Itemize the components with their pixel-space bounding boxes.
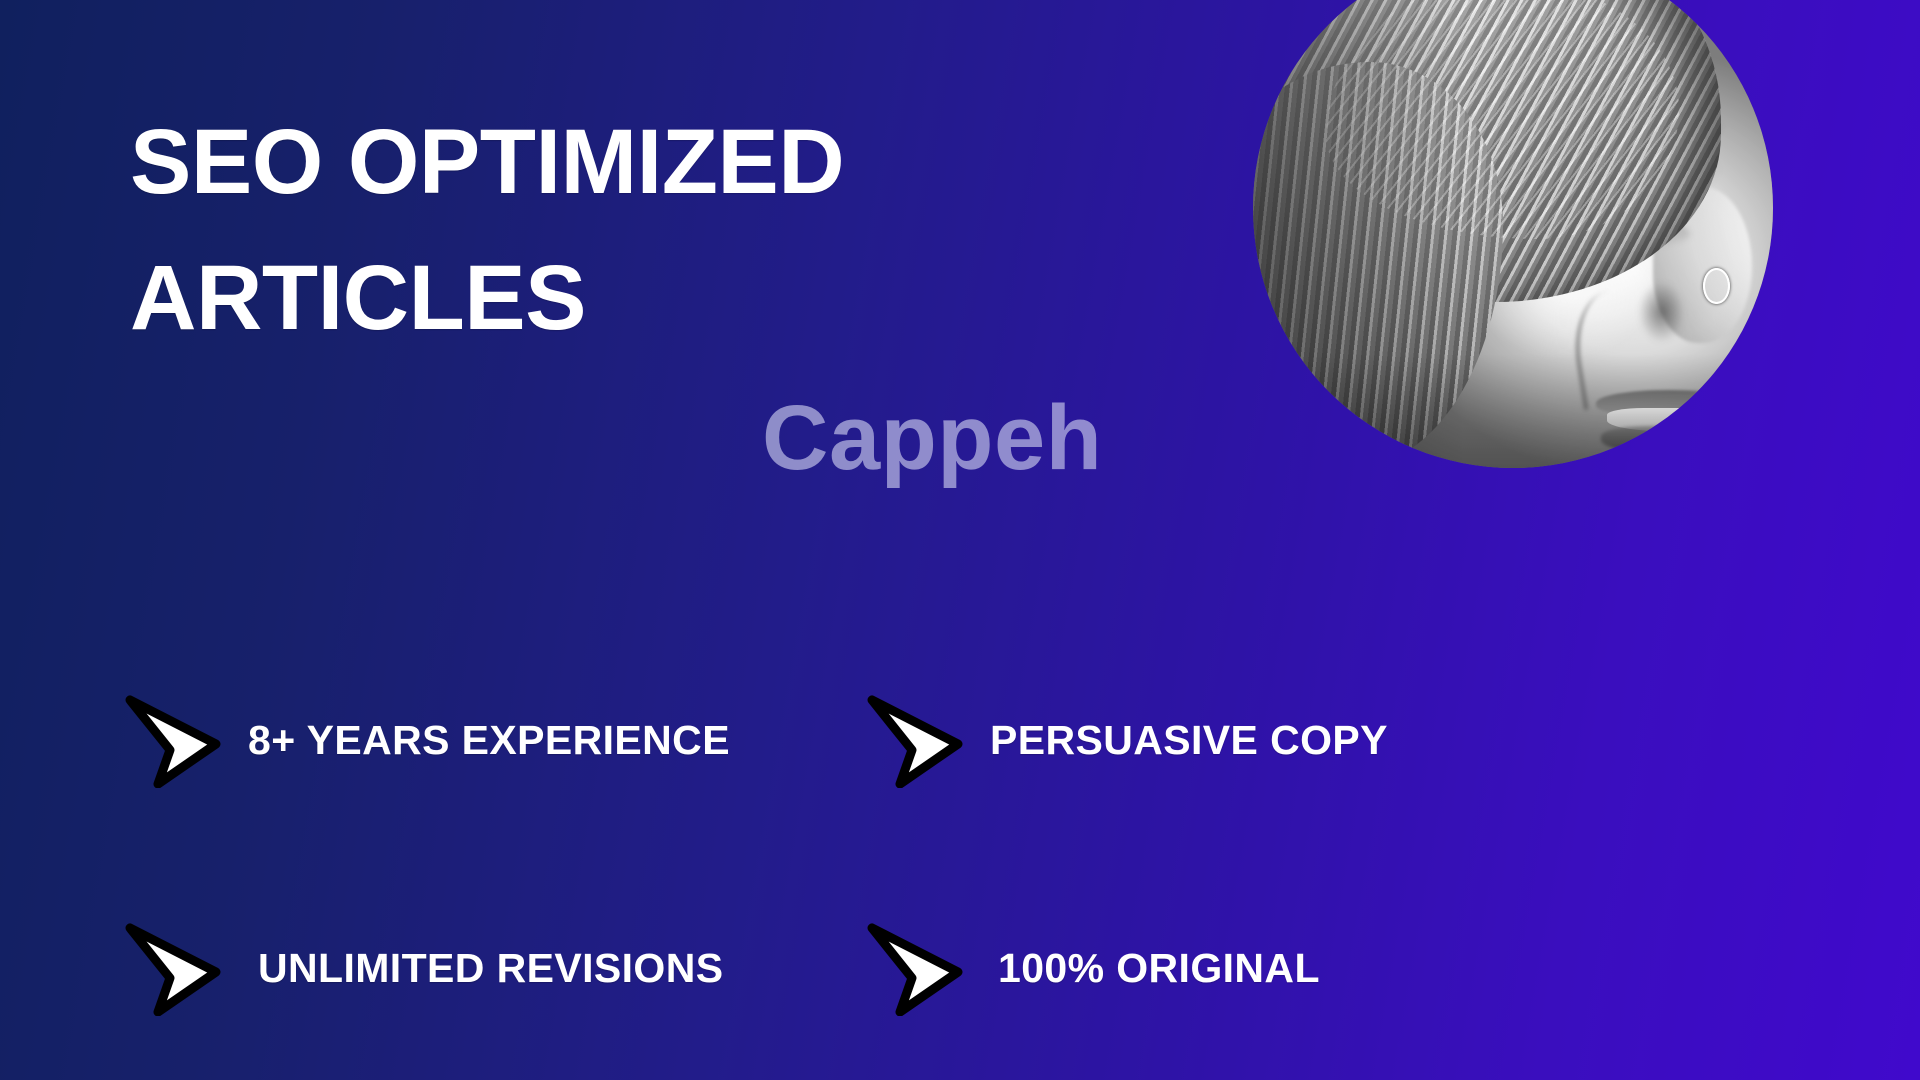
arrow-right-icon bbox=[860, 920, 964, 1016]
feature-item: UNLIMITED REVISIONS bbox=[118, 920, 858, 1016]
portrait-artwork bbox=[1253, 0, 1773, 468]
feature-label: UNLIMITED REVISIONS bbox=[248, 945, 723, 992]
portrait-circle-mask bbox=[1253, 0, 1773, 468]
arrow-right-icon bbox=[860, 692, 964, 788]
feature-label: 100% ORIGINAL bbox=[990, 945, 1320, 992]
feature-label: 8+ YEARS EXPERIENCE bbox=[248, 717, 730, 764]
feature-list: 8+ YEARS EXPERIENCE PERSUASIVE COPY UNLI… bbox=[118, 626, 1538, 1080]
headline: SEO OPTIMIZED ARTICLES bbox=[130, 94, 1030, 366]
arrow-right-icon bbox=[118, 920, 222, 1016]
arrow-right-icon bbox=[118, 692, 222, 788]
feature-item: PERSUASIVE COPY bbox=[858, 692, 1538, 788]
watermark-text: Cappeh bbox=[762, 392, 1102, 484]
title-line-1: SEO OPTIMIZED bbox=[130, 94, 1030, 230]
feature-label: PERSUASIVE COPY bbox=[990, 717, 1388, 764]
title-line-2: ARTICLES bbox=[130, 230, 1030, 366]
feature-item: 100% ORIGINAL bbox=[858, 920, 1538, 1016]
feature-item: 8+ YEARS EXPERIENCE bbox=[118, 692, 858, 788]
portrait-photo bbox=[1253, 0, 1773, 468]
nose-ring-icon bbox=[1703, 268, 1730, 304]
seo-articles-banner: SEO OPTIMIZED ARTICLES Cappeh 8+ YEARS E… bbox=[0, 0, 1920, 1080]
